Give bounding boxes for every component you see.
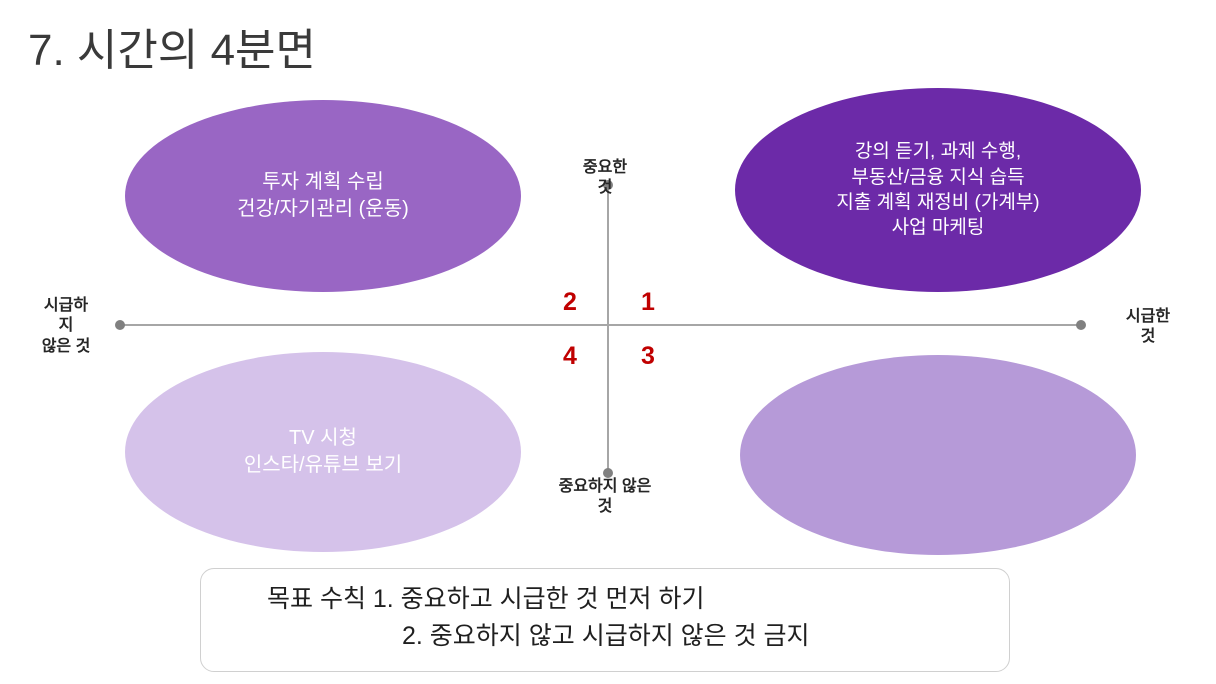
quadrant-number-3: 3 [633,342,663,371]
quadrant-number-2: 2 [555,288,585,317]
axis-label-important: 중요한 것 [540,158,670,199]
axis-label-urgent: 시급한 것 [1098,307,1198,348]
quadrant-ellipse-q2[interactable]: 투자 계획 수립 건강/자기관리 (운동) [125,100,521,292]
goal-rules-box: 목표 수칙 1. 중요하고 시급한 것 먼저 하기 2. 중요하지 않고 시급하… [200,568,1010,672]
quadrant-number-4: 4 [555,342,585,371]
page-title: 7. 시간의 4분면 [28,14,316,78]
quadrant-ellipse-q1-text: 강의 듣기, 과제 수행, 부동산/금융 지식 습득 지출 계획 재정비 (가계… [814,139,1061,241]
quadrant-ellipse-q1[interactable]: 강의 듣기, 과제 수행, 부동산/금융 지식 습득 지출 계획 재정비 (가계… [735,88,1141,292]
quadrant-ellipse-q3[interactable] [740,355,1136,555]
vertical-axis-line [607,185,609,474]
quadrant-ellipse-q4[interactable]: TV 시청 인스타/유튜브 보기 [125,352,521,552]
goal-rule-line-2: 2. 중요하지 않고 시급하지 않은 것 금지 [227,618,983,655]
quadrant-ellipse-q4-text: TV 시청 인스타/유튜브 보기 [222,425,424,479]
axis-endpoint-dot-left [115,320,125,330]
axis-endpoint-dot-right [1076,320,1086,330]
quadrant-ellipse-q2-text: 투자 계획 수립 건강/자기관리 (운동) [215,169,431,223]
slide-canvas: 7. 시간의 4분면 중요한 것 중요하지 않은 것 시급하 지 않은 것 시급… [0,0,1216,684]
goal-rule-line-1: 목표 수칙 1. 중요하고 시급한 것 먼저 하기 [227,581,983,618]
axis-label-not-important: 중요하지 않은 것 [520,477,690,518]
axis-label-not-urgent: 시급하 지 않은 것 [18,296,114,357]
horizontal-axis-line [120,324,1082,326]
quadrant-number-1: 1 [633,288,663,317]
